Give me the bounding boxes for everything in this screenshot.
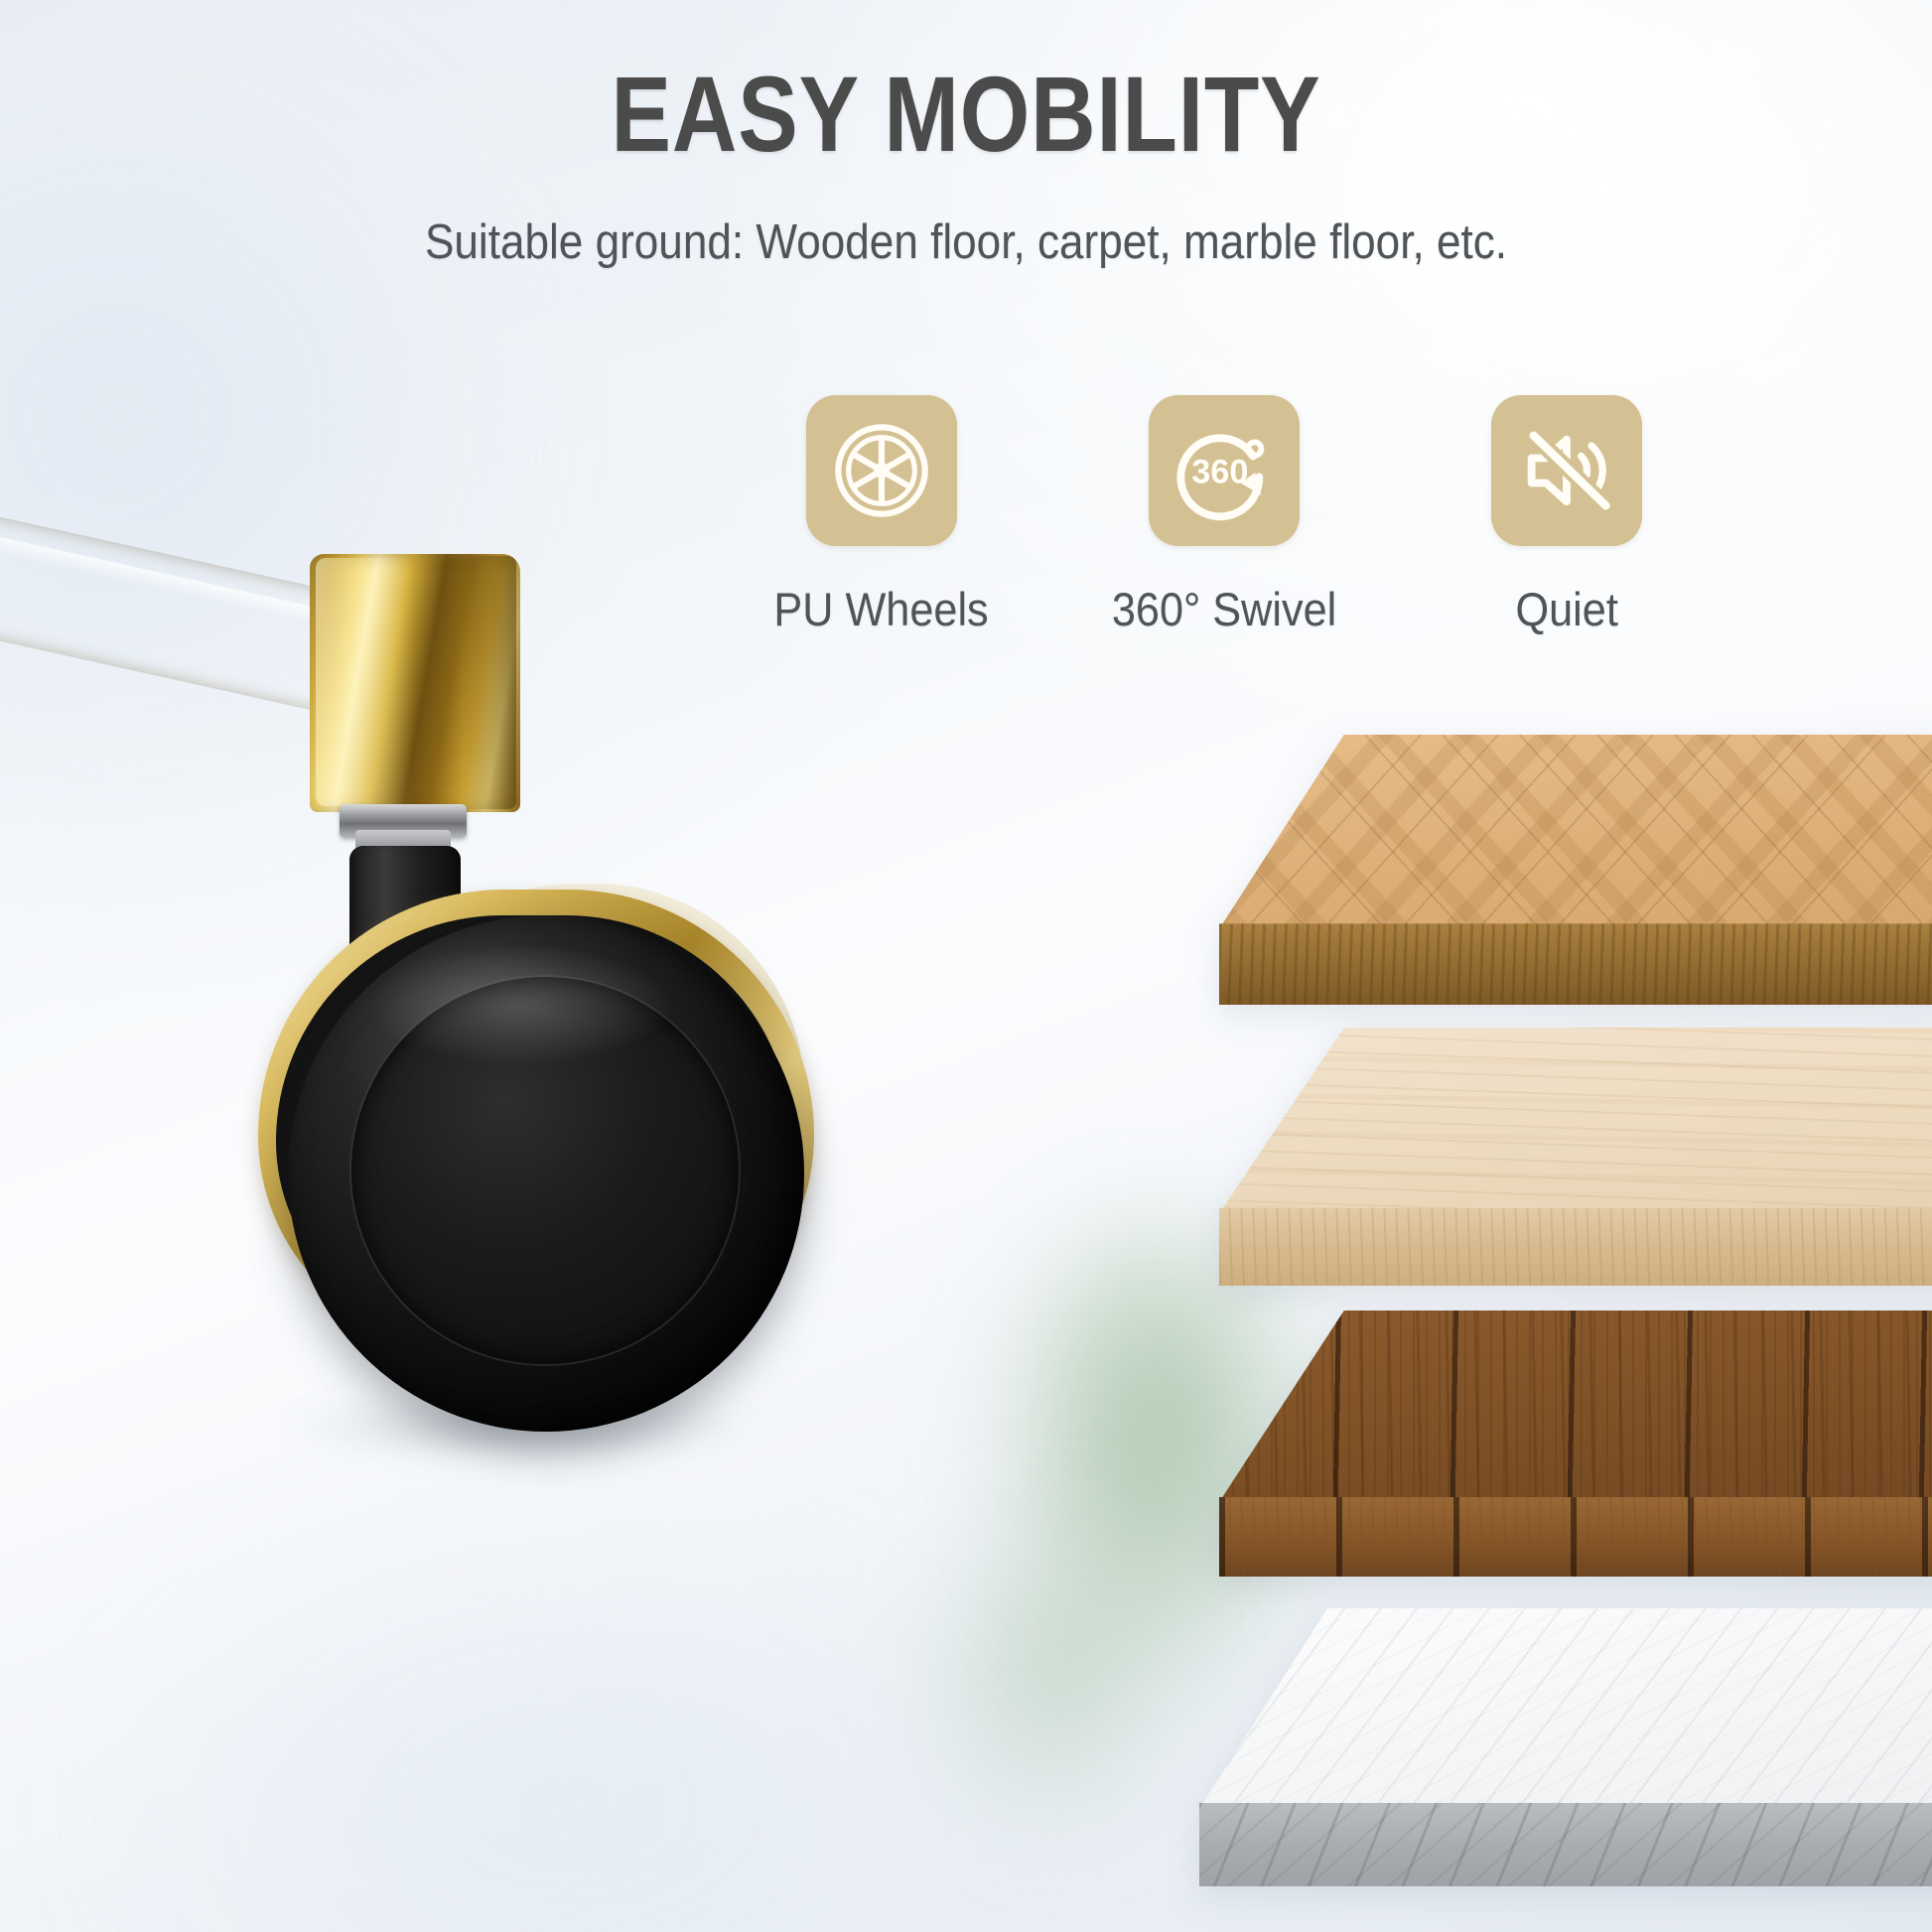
background-glow-bottom <box>119 1549 1013 1932</box>
floor-sample-pale-wood <box>1219 1028 1932 1286</box>
feature-item-quiet: Quiet <box>1452 395 1681 636</box>
rotate-360-icon: 360 <box>1173 419 1276 522</box>
wheel-highlight <box>371 945 669 1064</box>
svg-text:360: 360 <box>1191 453 1248 490</box>
feature-item-360-swivel: 360 360° Swivel <box>1110 395 1338 636</box>
mute-speaker-icon <box>1515 419 1618 522</box>
feature-list: PU Wheels 360 360° Swivel <box>767 395 1681 636</box>
gold-chair-leg-corner <box>310 554 520 812</box>
floor-sample-herringbone-parquet <box>1219 735 1932 1005</box>
floor-sample-white-marble <box>1199 1608 1932 1886</box>
feature-label-quiet: Quiet <box>1515 582 1617 636</box>
feature-badge-360-swivel: 360 <box>1149 395 1300 546</box>
floor-sample-dark-walnut-planks <box>1219 1311 1932 1577</box>
floor-sample-edge <box>1219 923 1932 1005</box>
floor-sample-edge <box>1219 1497 1932 1577</box>
product-feature-banner: EASY MOBILITY Suitable ground: Wooden fl… <box>0 0 1932 1932</box>
background-blurred-plant-lower <box>923 1509 1181 1837</box>
page-title: EASY MOBILITY <box>155 58 1778 170</box>
black-pu-wheel <box>288 915 804 1432</box>
floor-sample-edge <box>1219 1208 1932 1286</box>
feature-label-360-swivel: 360° Swivel <box>1112 582 1336 636</box>
feature-badge-quiet <box>1491 395 1642 546</box>
gold-caster-wheel-photo <box>0 467 854 1469</box>
floor-sample-edge <box>1199 1803 1932 1886</box>
page-subtitle: Suitable ground: Wooden floor, carpet, m… <box>96 214 1835 270</box>
